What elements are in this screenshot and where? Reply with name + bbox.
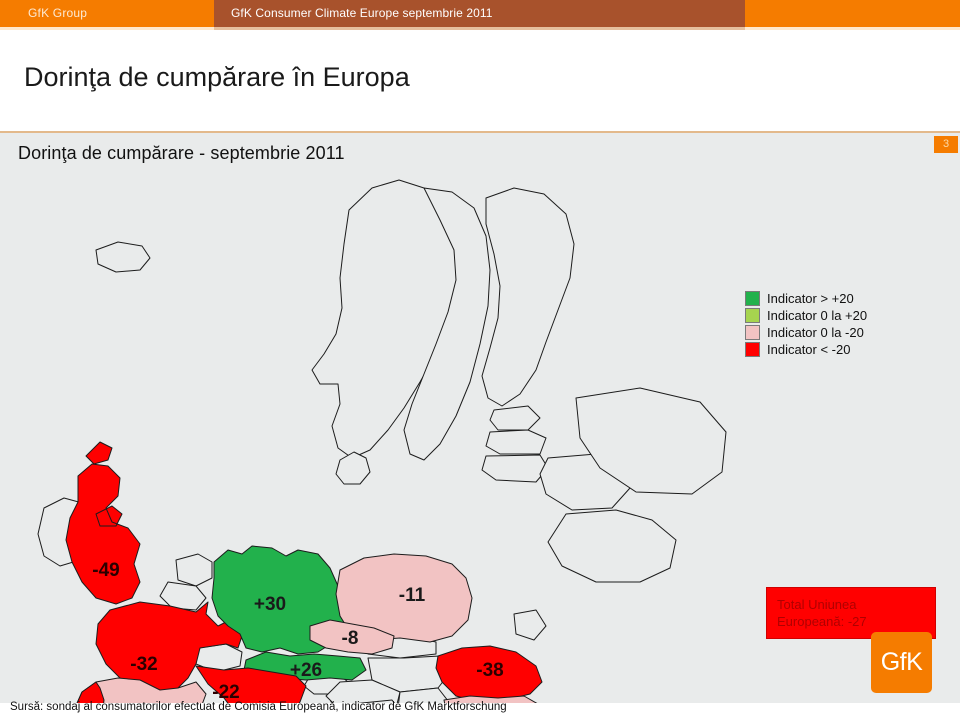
region-ukraine xyxy=(548,510,676,582)
region-netherlands xyxy=(176,554,212,586)
region-finland xyxy=(482,188,574,406)
legend-swatch-green xyxy=(745,291,760,306)
source-note: Sursă: sondaj al consumatorilor efectuat… xyxy=(10,701,507,713)
eu-total-line1: Total Uniunea xyxy=(777,596,927,613)
page-title: Dorinţa de cumpărare în Europa xyxy=(24,62,410,93)
region-denmark xyxy=(336,452,370,484)
region-lithuania xyxy=(482,455,548,482)
map-value-uk: -49 xyxy=(92,560,119,581)
map-value-italy: -22 xyxy=(212,682,239,703)
region-estonia xyxy=(490,406,540,430)
legend-label: Indicator 0 la -20 xyxy=(767,325,864,340)
legend-label: Indicator > +20 xyxy=(767,291,854,306)
legend: Indicator > +20 Indicator 0 la +20 Indic… xyxy=(745,290,905,358)
legend-swatch-light-green xyxy=(745,308,760,323)
legend-item: Indicator 0 la -20 xyxy=(745,324,905,340)
top-bar-underline xyxy=(0,27,960,30)
legend-item: Indicator > +20 xyxy=(745,290,905,306)
gfk-logo-text: GfK xyxy=(871,632,932,693)
legend-swatch-pink xyxy=(745,325,760,340)
map-value-romania: -38 xyxy=(476,660,503,681)
legend-item: Indicator < -20 xyxy=(745,341,905,357)
map-value-germany: +30 xyxy=(254,594,286,615)
legend-label: Indicator 0 la +20 xyxy=(767,308,867,323)
map-value-czech: -8 xyxy=(342,628,359,649)
map-value-france: -32 xyxy=(130,654,157,675)
top-bar: GfK Group GfK Consumer Climate Europe se… xyxy=(0,0,960,27)
page-number-badge: 3 xyxy=(934,136,958,153)
region-moldova xyxy=(514,610,546,640)
legend-item: Indicator 0 la +20 xyxy=(745,307,905,323)
brand-label: GfK Group xyxy=(28,6,87,20)
slide: GfK Group GfK Consumer Climate Europe se… xyxy=(0,0,960,720)
subtitle-bar: GfK Consumer Climate Europe septembrie 2… xyxy=(214,0,745,27)
map-value-poland: -11 xyxy=(399,585,426,606)
region-latvia xyxy=(486,430,546,454)
region-iceland xyxy=(96,242,150,272)
gfk-logo: GfK xyxy=(871,632,932,693)
legend-swatch-red xyxy=(745,342,760,357)
subtitle-label: GfK Consumer Climate Europe septembrie 2… xyxy=(231,6,493,20)
legend-label: Indicator < -20 xyxy=(767,342,850,357)
content-panel: Dorinţa de cumpărare - septembrie 2011 3 xyxy=(0,131,960,703)
brand-bar: GfK Group xyxy=(0,0,214,27)
europe-choropleth-map: -49 -32 +30 -11 -8 +26 -22 xyxy=(0,158,740,703)
eu-total-line2: Europeană: -27 xyxy=(777,613,927,630)
eu-total-text: Total Uniunea Europeană: -27 xyxy=(777,596,927,630)
